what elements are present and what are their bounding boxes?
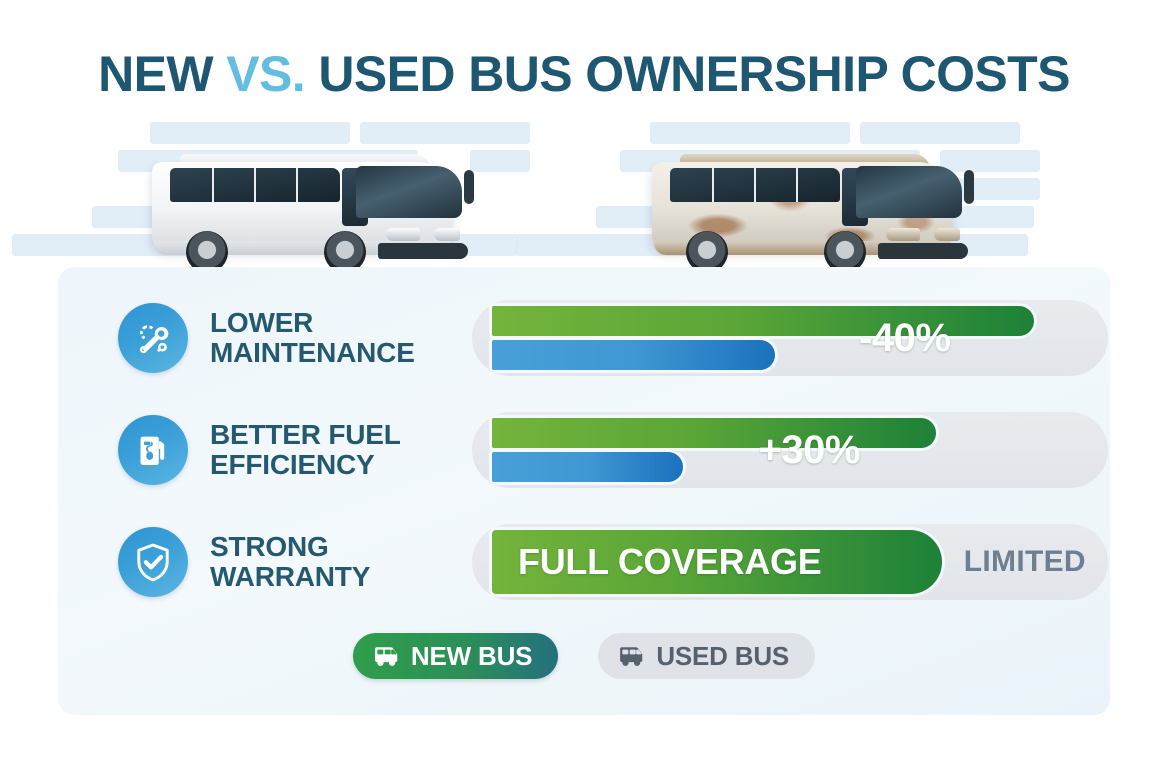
legend-label-new-bus: NEW BUS xyxy=(411,641,532,672)
new-bus-bar-warranty: FULL COVERAGE xyxy=(492,530,942,594)
metric-label-maintenance: LOWER MAINTENANCE xyxy=(210,308,472,367)
metric-row-warranty: STRONG WARRANTY FULL COVERAGE LIMITED xyxy=(118,519,1108,605)
shield-check-icon xyxy=(118,527,188,597)
metric-label-line1: STRONG xyxy=(210,532,472,562)
used-bus-bar-fuel xyxy=(492,452,683,482)
metric-label-warranty: STRONG WARRANTY xyxy=(210,532,472,591)
metric-label-line1: BETTER FUEL xyxy=(210,420,472,450)
page-title: NEW VS. USED BUS OWNERSHIP COSTS xyxy=(0,48,1168,101)
metric-value-warranty: FULL COVERAGE xyxy=(518,541,821,583)
title-part-2: USED BUS OWNERSHIP COSTS xyxy=(318,46,1069,102)
hero-section xyxy=(0,104,1168,294)
metric-row-fuel: BETTER FUEL EFFICIENCY +30% xyxy=(118,407,1108,493)
metric-label-line2: EFFICIENCY xyxy=(210,450,472,480)
used-bus-value-warranty: LIMITED xyxy=(964,524,1086,600)
metric-label-fuel: BETTER FUEL EFFICIENCY xyxy=(210,420,472,479)
new-bus-bar-fuel xyxy=(492,418,936,448)
title-part-1: NEW xyxy=(98,46,213,102)
metric-label-line1: LOWER xyxy=(210,308,472,338)
new-bus-bar-maintenance xyxy=(492,306,1034,336)
bus-icon xyxy=(373,644,399,668)
title-accent-vs: VS. xyxy=(226,46,305,102)
metric-row-maintenance: LOWER MAINTENANCE -40% xyxy=(118,295,1108,381)
comparison-panel: LOWER MAINTENANCE -40% BETT xyxy=(58,267,1110,715)
infographic-root: NEW VS. USED BUS OWNERSHIP COSTS xyxy=(0,0,1168,779)
wrench-gear-icon xyxy=(118,303,188,373)
legend-label-used-bus: USED BUS xyxy=(656,641,789,672)
fuel-pump-icon xyxy=(118,415,188,485)
used-bus-bar-maintenance xyxy=(492,340,775,370)
bus-icon xyxy=(618,644,644,668)
legend-chip-new-bus[interactable]: NEW BUS xyxy=(353,633,558,679)
metric-bar-track-fuel: +30% xyxy=(472,412,1108,488)
legend: NEW BUS USED BUS xyxy=(58,633,1110,679)
metric-label-line2: MAINTENANCE xyxy=(210,338,472,368)
metric-label-line2: WARRANTY xyxy=(210,562,472,592)
metric-bar-track-maintenance: -40% xyxy=(472,300,1108,376)
metric-bar-track-warranty: FULL COVERAGE LIMITED xyxy=(472,524,1108,600)
legend-chip-used-bus[interactable]: USED BUS xyxy=(598,633,815,679)
